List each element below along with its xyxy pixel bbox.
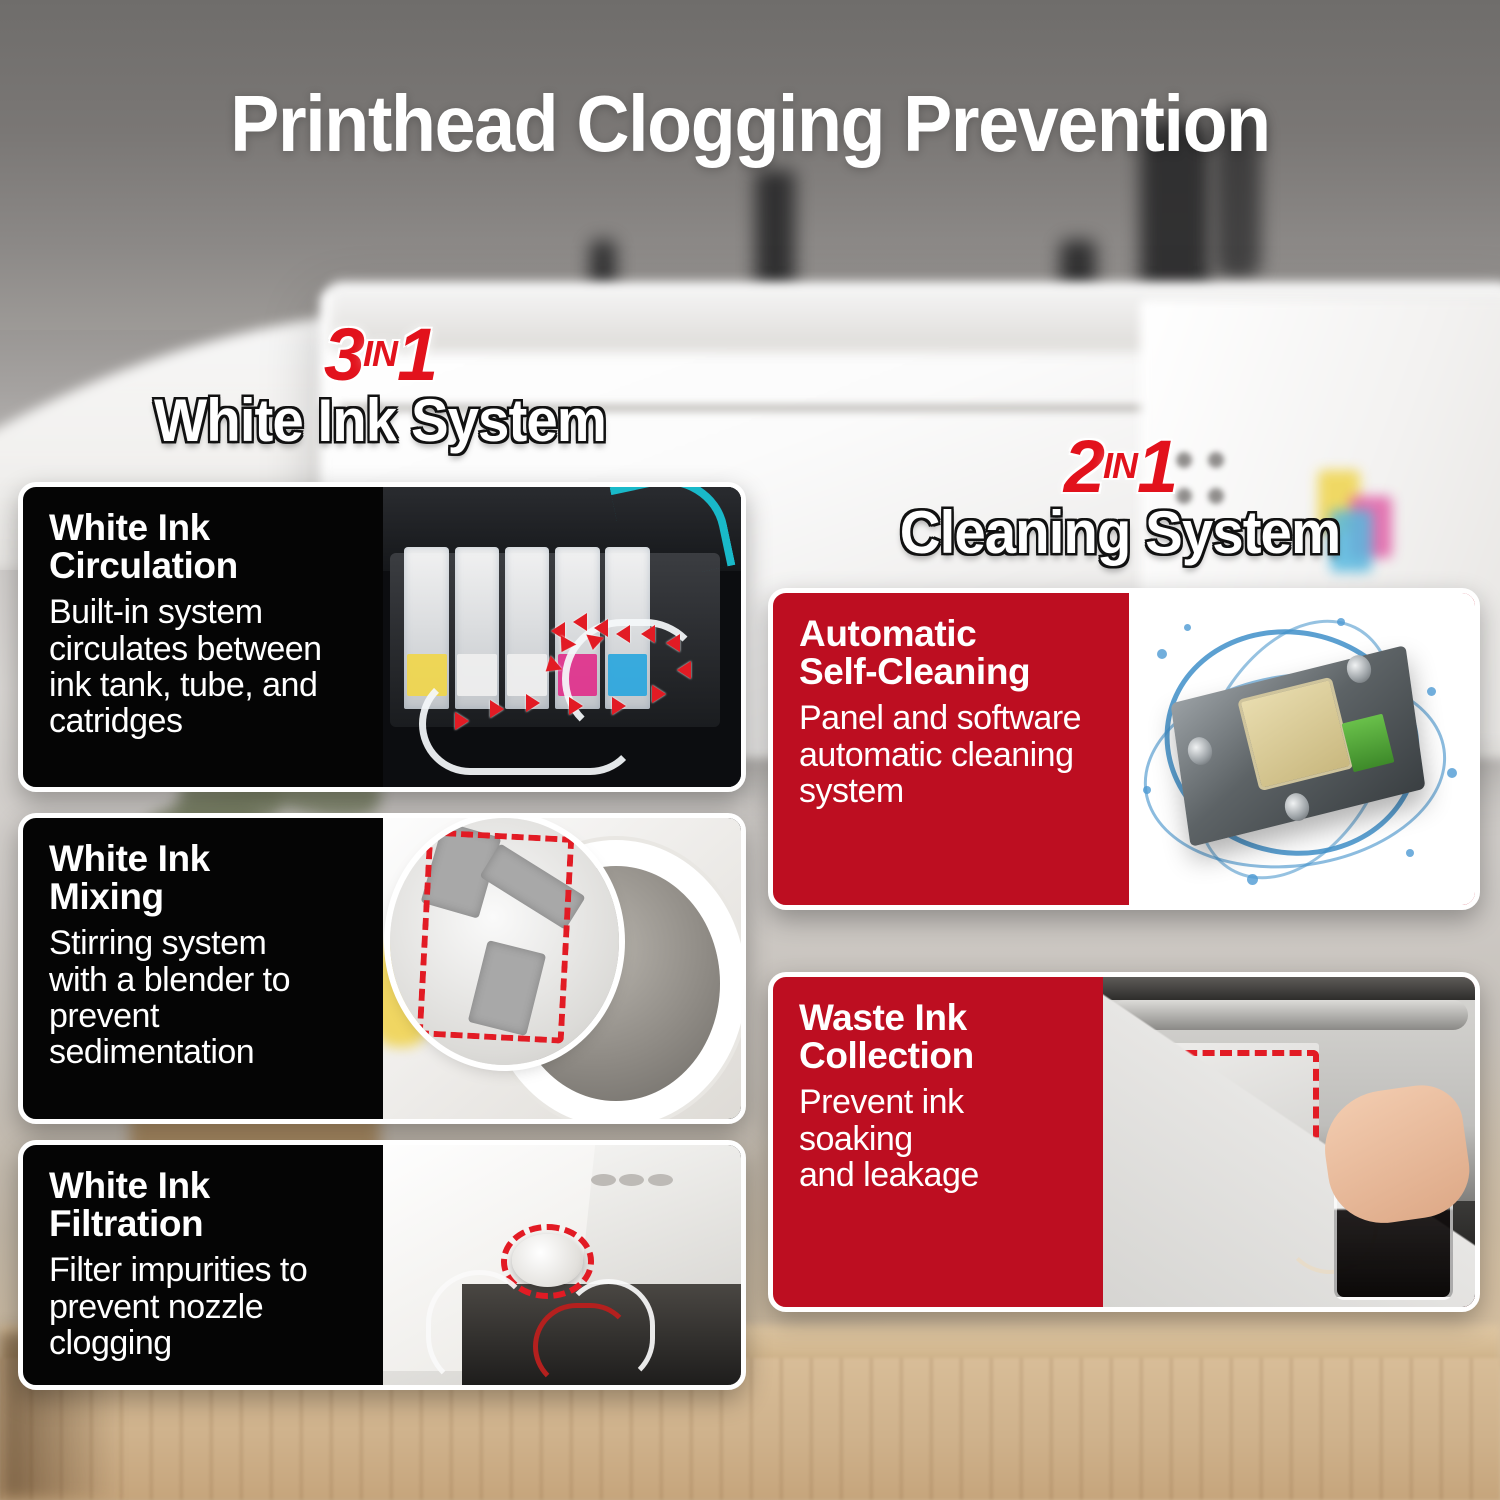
badge-number: 2 bbox=[1064, 425, 1103, 508]
card-description: Stirring system with a blender to preven… bbox=[49, 925, 367, 1071]
feature-card-white-ink-mixing[interactable]: White Ink Mixing Stirring system with a … bbox=[18, 813, 746, 1124]
card-title: Waste Ink Collection bbox=[799, 999, 1087, 1075]
badge-one: 1 bbox=[397, 313, 436, 396]
card-photo-ink-cartridges bbox=[383, 487, 741, 787]
card-title: Automatic Self-Cleaning bbox=[799, 615, 1113, 691]
card-text-block: White Ink Mixing Stirring system with a … bbox=[23, 818, 383, 1119]
badge-in-word: IN bbox=[363, 333, 397, 374]
badge-2-in-1: 2IN1 bbox=[800, 430, 1440, 504]
feature-card-white-ink-circulation[interactable]: White Ink Circulation Built-in system ci… bbox=[18, 482, 746, 792]
card-text-block: White Ink Circulation Built-in system ci… bbox=[23, 487, 383, 787]
badge-3-in-1: 3IN1 bbox=[60, 318, 700, 392]
card-text-block: Automatic Self-Cleaning Panel and softwa… bbox=[773, 593, 1129, 905]
card-text-block: Waste Ink Collection Prevent ink soaking… bbox=[773, 977, 1103, 1307]
badge-number: 3 bbox=[324, 313, 363, 396]
card-description: Prevent ink soaking and leakage bbox=[799, 1084, 1087, 1193]
feature-card-white-ink-filtration[interactable]: White Ink Filtration Filter impurities t… bbox=[18, 1140, 746, 1390]
card-text-block: White Ink Filtration Filter impurities t… bbox=[23, 1145, 383, 1385]
feature-card-automatic-self-cleaning[interactable]: Automatic Self-Cleaning Panel and softwa… bbox=[768, 588, 1480, 910]
card-description: Built-in system circulates between ink t… bbox=[49, 594, 367, 740]
card-title: White Ink Mixing bbox=[49, 840, 367, 916]
infographic-poster: Printhead Clogging Prevention 3IN1 White… bbox=[0, 0, 1500, 1500]
section-heading-white-ink-system: 3IN1 White Ink System bbox=[60, 318, 700, 455]
feature-card-waste-ink-collection[interactable]: Waste Ink Collection Prevent ink soaking… bbox=[768, 972, 1480, 1312]
page-title: Printhead Clogging Prevention bbox=[60, 78, 1440, 170]
badge-one: 1 bbox=[1137, 425, 1176, 508]
card-photo-waste-ink bbox=[1103, 977, 1475, 1307]
card-title: White Ink Circulation bbox=[49, 509, 367, 585]
card-title: White Ink Filtration bbox=[49, 1167, 367, 1243]
badge-in-word: IN bbox=[1103, 445, 1137, 486]
section-title: Cleaning System bbox=[819, 498, 1421, 567]
card-photo-printhead-splash bbox=[1129, 593, 1475, 905]
card-description: Panel and software automatic cleaning sy… bbox=[799, 700, 1113, 809]
card-photo-filter-unit bbox=[383, 1145, 741, 1385]
card-photo-blender bbox=[383, 818, 741, 1119]
section-title: White Ink System bbox=[79, 386, 681, 455]
section-heading-cleaning-system: 2IN1 Cleaning System bbox=[800, 430, 1440, 567]
card-description: Filter impurities to prevent nozzle clog… bbox=[49, 1252, 367, 1361]
